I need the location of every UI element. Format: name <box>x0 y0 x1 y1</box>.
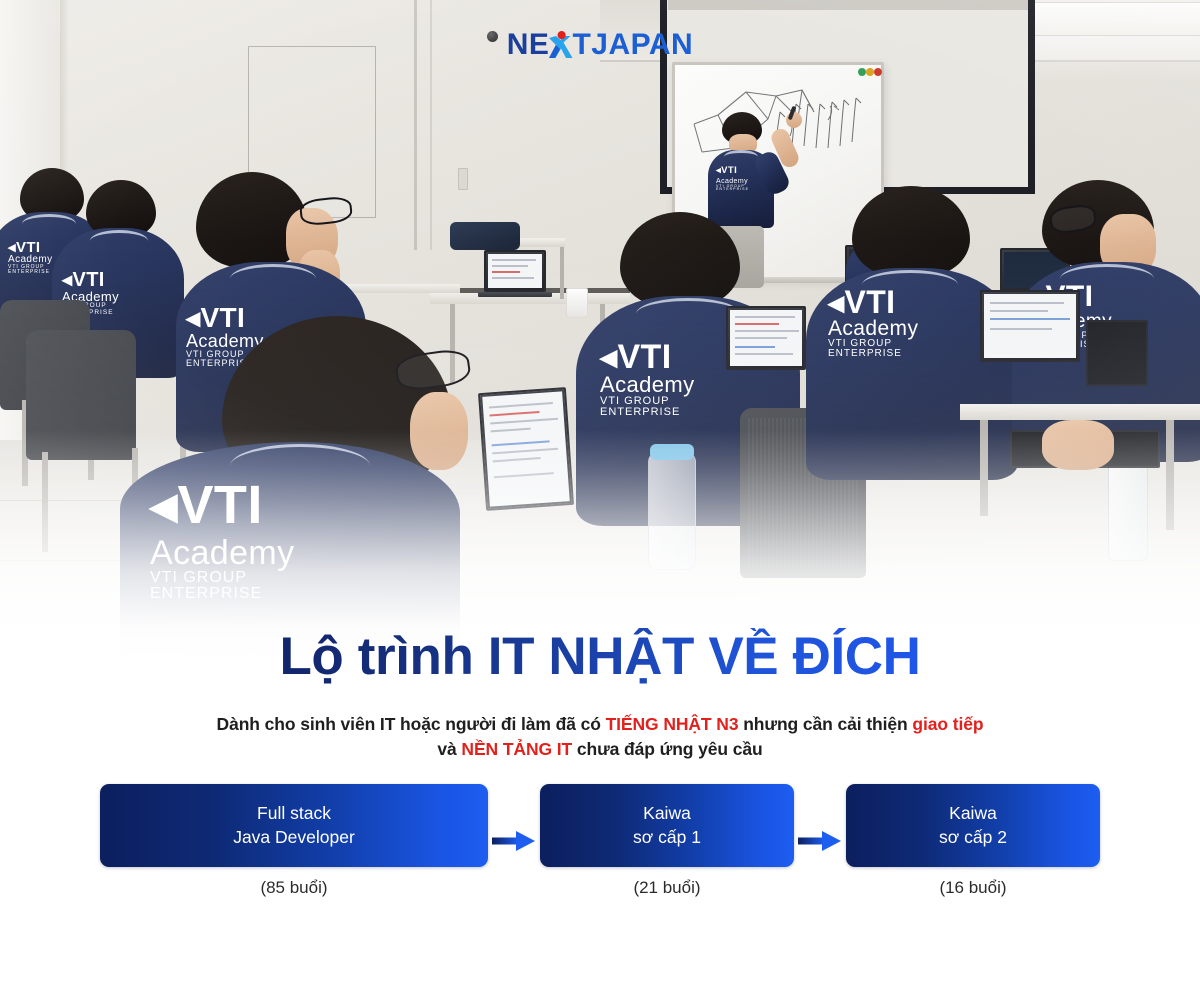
nextjapan-logo: NE TJAPAN <box>0 30 1200 60</box>
roadmap-card-3-line2: sơ cấp 2 <box>939 826 1007 849</box>
roadmap-row: Full stack Java Developer (85 buổi) Kaiw… <box>100 784 1100 898</box>
subtitle-text: chưa đáp ứng yêu cầu <box>572 739 763 759</box>
subtitle-line-2: và NỀN TẢNG IT chưa đáp ứng yêu cầu <box>0 737 1200 762</box>
roadmap-step-3[interactable]: Kaiwa sơ cấp 2 (16 buổi) <box>846 784 1100 898</box>
roadmap-card-2-line2: sơ cấp 1 <box>633 826 701 849</box>
nextjapan-logo-wrap: NE TJAPAN <box>507 30 693 60</box>
roadmap-card-2[interactable]: Kaiwa sơ cấp 1 <box>540 784 794 867</box>
brand-text-part1: NE <box>507 30 550 60</box>
arrow-right-icon <box>488 784 540 898</box>
roadmap-card-1[interactable]: Full stack Java Developer <box>100 784 488 867</box>
subtitle-text: nhưng cần cải thiện <box>738 714 912 734</box>
roadmap-card-2-line1: Kaiwa <box>643 802 691 825</box>
roadmap-caption-1: (85 buổi) <box>100 878 488 898</box>
subtitle-text: Dành cho sinh viên IT hoặc người đi làm … <box>217 714 606 734</box>
roadmap-card-3-line1: Kaiwa <box>949 802 997 825</box>
classroom-photo: ◂VTI Academy VTI GROUP ENTERPRISE ◂VTI A… <box>0 0 1200 660</box>
poster-root: ◂VTI Academy VTI GROUP ENTERPRISE ◂VTI A… <box>0 0 1200 1000</box>
roadmap-card-3[interactable]: Kaiwa sơ cấp 2 <box>846 784 1100 867</box>
subtitle-highlight: TIẾNG NHẬT N3 <box>606 714 739 734</box>
subtitle-highlight: giao tiếp <box>912 714 983 734</box>
roadmap-card-1-line2: Java Developer <box>233 826 355 849</box>
brand-text-part2: TJAPAN <box>572 30 693 60</box>
subtitle: Dành cho sinh viên IT hoặc người đi làm … <box>0 712 1200 763</box>
subtitle-highlight: NỀN TẢNG IT <box>461 739 572 759</box>
photo-bottom-fade <box>0 430 1200 660</box>
roadmap-step-1[interactable]: Full stack Java Developer (85 buổi) <box>100 784 488 898</box>
roadmap-step-2[interactable]: Kaiwa sơ cấp 1 (21 buổi) <box>540 784 794 898</box>
roadmap: Full stack Java Developer (85 buổi) Kaiw… <box>100 784 1100 898</box>
subtitle-line-1: Dành cho sinh viên IT hoặc người đi làm … <box>0 712 1200 737</box>
roadmap-caption-2: (21 buổi) <box>540 878 794 898</box>
page-title-text: Lộ trình IT NHẬT VỀ ĐÍCH <box>279 628 920 685</box>
page-title: Lộ trình IT NHẬT VỀ ĐÍCH <box>0 628 1200 685</box>
roadmap-card-1-line1: Full stack <box>257 802 331 825</box>
subtitle-text: và <box>437 739 461 759</box>
arrow-right-icon <box>794 784 846 898</box>
roadmap-caption-3: (16 buổi) <box>846 878 1100 898</box>
next-person-x-icon <box>548 30 573 60</box>
